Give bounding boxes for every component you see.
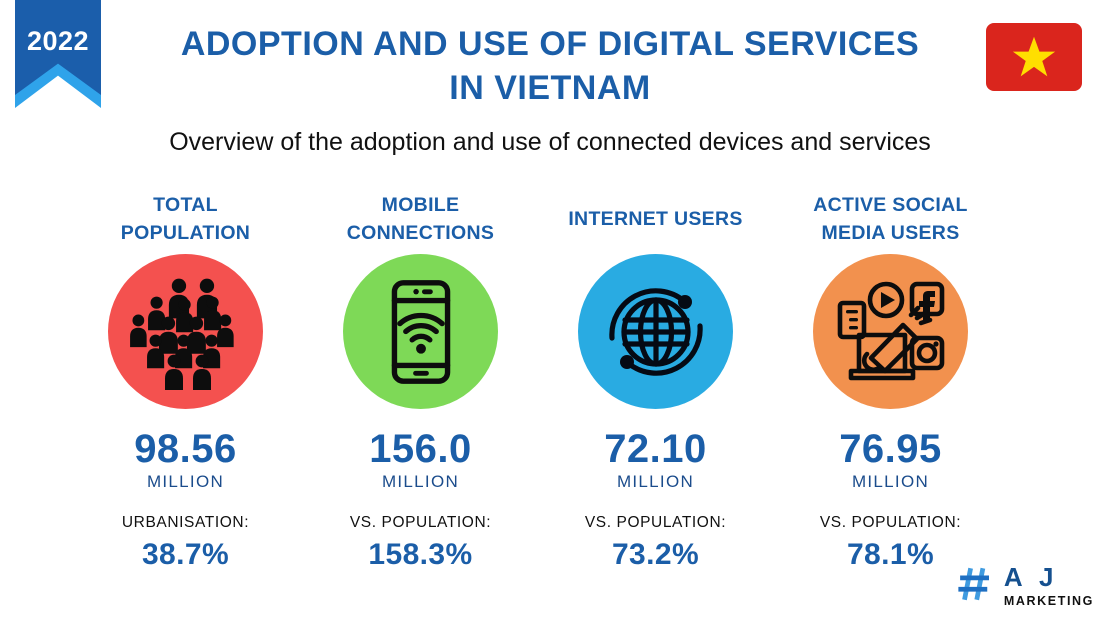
stat-header-line1: TOTAL <box>68 191 303 219</box>
stat-value: 156.0 <box>369 427 472 471</box>
stat-subvalue: 158.3% <box>368 538 472 572</box>
stat-header-line2: MEDIA USERS <box>773 219 1008 247</box>
crowd-people-icon <box>108 254 263 409</box>
year-ribbon: 2022 <box>15 0 101 118</box>
stat-header-line1: MOBILE <box>303 191 538 219</box>
stat-sublabel: VS. POPULATION: <box>820 514 961 532</box>
hash-icon <box>954 563 996 610</box>
year-label: 2022 <box>15 26 101 57</box>
page-title: ADOPTION AND USE OF DIGITAL SERVICES IN … <box>120 22 980 110</box>
page-subtitle: Overview of the adoption and use of conn… <box>100 126 1000 158</box>
stat-header-mobile-connections: MOBILE CONNECTIONS <box>303 188 538 250</box>
stat-card-mobile-connections: MOBILE CONNECTIONS <box>303 188 538 572</box>
page-title-line2: IN VIETNAM <box>120 66 980 110</box>
brand-logo-text: A J MARKETING <box>1004 564 1094 609</box>
brand-logo: A J MARKETING <box>954 563 1094 610</box>
stat-subvalue: 73.2% <box>612 538 699 572</box>
brand-name: A J <box>1004 564 1094 590</box>
stats-row: TOTAL POPULATION <box>0 188 1110 572</box>
stat-header-active-social-media-users: ACTIVE SOCIAL MEDIA USERS <box>773 188 1008 250</box>
stat-sublabel: VS. POPULATION: <box>350 514 491 532</box>
stat-unit: MILLION <box>147 472 224 492</box>
stat-subvalue: 38.7% <box>142 538 229 572</box>
vietnam-flag-icon <box>986 23 1082 91</box>
stat-value: 98.56 <box>134 427 237 471</box>
stat-sublabel: URBANISATION: <box>122 514 249 532</box>
stat-header-line1: ACTIVE SOCIAL <box>773 191 1008 219</box>
page-title-line1: ADOPTION AND USE OF DIGITAL SERVICES <box>120 22 980 66</box>
stat-header-line1: INTERNET USERS <box>538 205 773 233</box>
globe-network-icon <box>578 254 733 409</box>
smartphone-wifi-icon <box>343 254 498 409</box>
stat-unit: MILLION <box>382 472 459 492</box>
stat-header-line2: CONNECTIONS <box>303 219 538 247</box>
social-media-megaphone-icon <box>813 254 968 409</box>
stat-card-internet-users: INTERNET USERS <box>538 188 773 572</box>
stat-sublabel: VS. POPULATION: <box>585 514 726 532</box>
stat-card-active-social-media-users: ACTIVE SOCIAL MEDIA USERS <box>773 188 1008 572</box>
stat-header-line2: POPULATION <box>68 219 303 247</box>
stat-header-total-population: TOTAL POPULATION <box>68 188 303 250</box>
stat-unit: MILLION <box>617 472 694 492</box>
stat-subvalue: 78.1% <box>847 538 934 572</box>
stat-value: 76.95 <box>839 427 942 471</box>
stat-value: 72.10 <box>604 427 707 471</box>
brand-tagline: MARKETING <box>1004 593 1094 609</box>
stat-card-total-population: TOTAL POPULATION <box>68 188 303 572</box>
stat-header-internet-users: INTERNET USERS <box>538 188 773 250</box>
stat-unit: MILLION <box>852 472 929 492</box>
